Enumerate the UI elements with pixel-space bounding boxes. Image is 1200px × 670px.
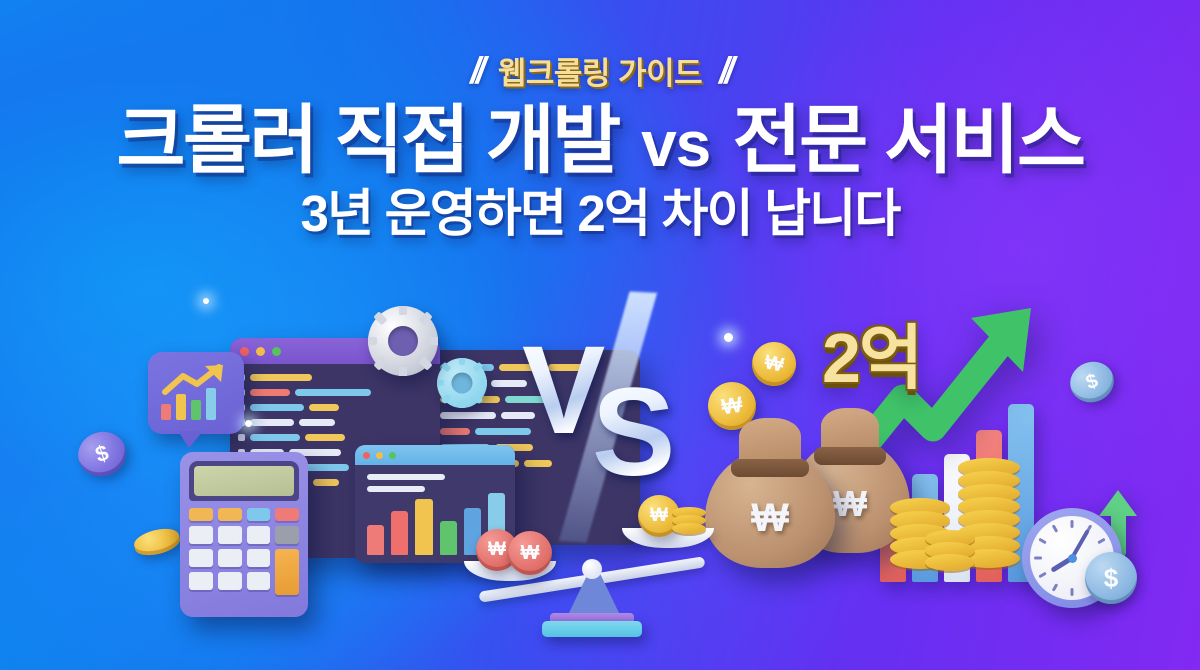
calculator-key (247, 526, 271, 544)
calculator-keypad (189, 508, 299, 595)
minimize-dot-icon (256, 347, 265, 356)
calculator-key (218, 526, 242, 544)
dollar-symbol: $ (1104, 563, 1118, 594)
bubble-bar (176, 394, 186, 420)
bubble-bar (206, 388, 216, 420)
code-line (238, 419, 432, 426)
gear-small-icon (437, 358, 487, 408)
eyebrow-label: 웹크롤링 가이드 (498, 48, 702, 93)
calculator-key (218, 508, 242, 521)
won-symbol: ₩ (720, 392, 744, 421)
won-coin-red: ₩ (508, 531, 552, 575)
coin-stack (925, 530, 975, 582)
page-subtitle: 3년 운영하면 2억 차이 납니다 (0, 187, 1200, 241)
calculator-key (189, 549, 213, 567)
close-dot-icon (240, 347, 249, 356)
page-title: 크롤러 직접 개발 vs 전문 서비스 (0, 101, 1200, 180)
dashboard-bar (440, 521, 457, 555)
close-dot-icon (363, 452, 370, 459)
calculator (180, 452, 308, 617)
gold-coin-flat (132, 525, 182, 559)
header-block: // 웹크롤링 가이드 // 크롤러 직접 개발 vs 전문 서비스 3년 운영… (0, 0, 1200, 240)
won-symbol: ₩ (488, 539, 506, 561)
dollar-symbol: $ (92, 440, 112, 469)
calculator-key (189, 526, 213, 544)
money-bag: ₩ (705, 418, 835, 568)
slash-right-icon: // (719, 50, 730, 92)
maximize-dot-icon (272, 347, 281, 356)
code-line (238, 404, 432, 411)
calculator-key (275, 508, 299, 521)
dashboard-titlebar (355, 445, 515, 465)
balance-scale: ₩ ₩ ₩ (470, 512, 715, 637)
dollar-symbol: $ (1083, 369, 1101, 394)
maximize-dot-icon (389, 452, 396, 459)
code-line (238, 389, 432, 396)
dashboard-text-lines (355, 465, 515, 492)
won-coin-floating: ₩ (748, 338, 800, 390)
calculator-key (189, 508, 213, 521)
scale-pivot (582, 559, 602, 579)
bubble-bar (161, 404, 171, 420)
calculator-key (275, 526, 299, 544)
thumbnail-canvas: // 웹크롤링 가이드 // 크롤러 직접 개발 vs 전문 서비스 3년 운영… (0, 0, 1200, 670)
won-symbol: ₩ (521, 542, 540, 565)
bubble-bar-group (161, 386, 216, 420)
won-symbol: ₩ (762, 351, 785, 377)
calculator-key (247, 508, 271, 521)
won-symbol: ₩ (705, 496, 835, 541)
coin-stack-scale (672, 507, 706, 537)
title-part-1: 크롤러 직접 개발 (117, 98, 619, 182)
calculator-key (218, 572, 242, 590)
calculator-key (247, 572, 271, 590)
dollar-coin-blue: $ (1064, 356, 1119, 409)
calculator-key (218, 549, 242, 567)
clock-center-pin (1068, 554, 1077, 563)
dashboard-bar (415, 499, 432, 555)
dollar-coin-purple: $ (72, 426, 131, 483)
dashboard-bar (367, 525, 384, 555)
sparkle-icon (203, 298, 209, 304)
code-line (238, 434, 432, 441)
title-vs-word: vs (637, 108, 714, 180)
minimize-dot-icon (376, 452, 383, 459)
calculator-display-housing (189, 461, 299, 501)
amount-badge: 2억 (822, 302, 921, 403)
sparkle-icon (724, 333, 733, 342)
title-part-2: 전문 서비스 (733, 98, 1084, 182)
calculator-key (247, 549, 271, 567)
scale-base-lower (542, 621, 642, 637)
calculator-key (189, 572, 213, 590)
calculator-screen (194, 466, 294, 496)
chart-bubble (148, 352, 244, 434)
vs-mark: V S (520, 318, 690, 508)
vs-letter-s: S (592, 370, 675, 495)
sparkle-icon (245, 420, 252, 427)
calculator-key-equals (275, 549, 299, 595)
eyebrow-row: // 웹크롤링 가이드 // (0, 48, 1200, 93)
won-symbol: ₩ (650, 505, 668, 527)
gear-large-icon (368, 306, 438, 376)
dashboard-bar (391, 511, 408, 555)
dollar-coin-clock: $ (1085, 552, 1137, 604)
bubble-bar (191, 400, 201, 420)
slash-left-icon: // (470, 50, 481, 92)
